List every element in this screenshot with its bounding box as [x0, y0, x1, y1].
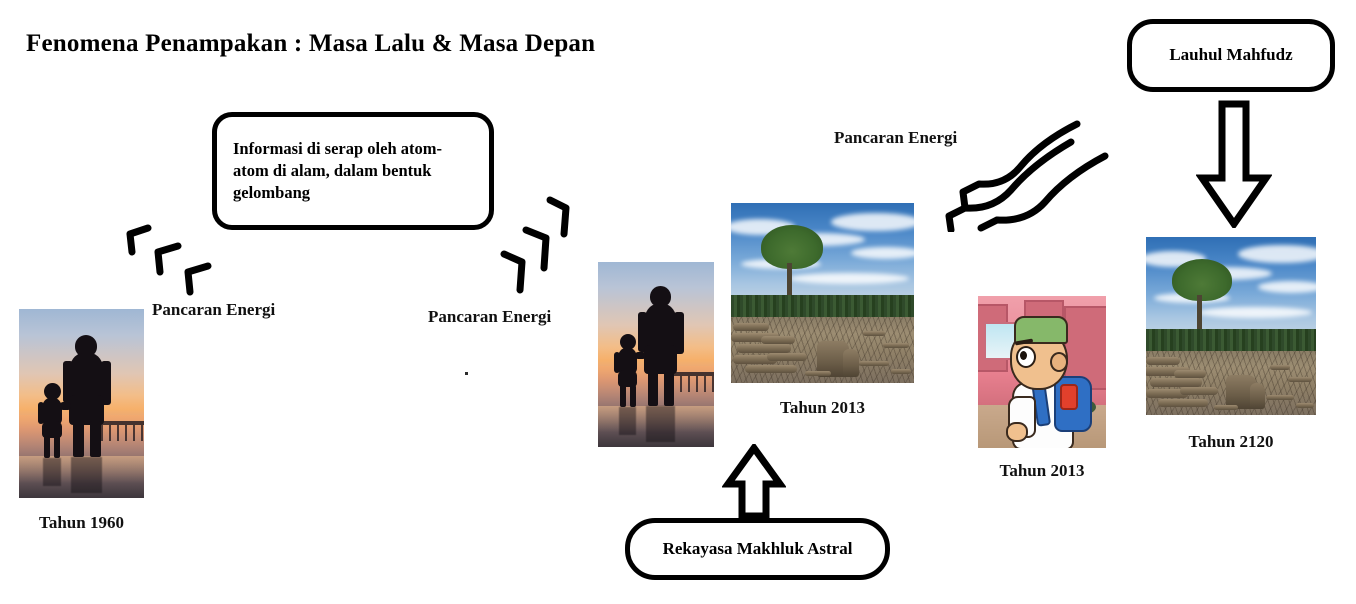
photo-deforestation-2120 — [1146, 237, 1316, 415]
label-pancaran-energi-right: Pancaran Energi — [834, 128, 957, 148]
label-pancaran-energi-middle: Pancaran Energi — [428, 307, 551, 327]
callout-lauhul-mahfudz: Lauhul Mahfudz — [1127, 19, 1335, 92]
page-title: Fenomena Penampakan : Masa Lalu & Masa D… — [26, 30, 595, 58]
stray-dot-artifact — [465, 372, 468, 375]
photo-cartoon-boy-2013 — [978, 296, 1106, 448]
caption-photo-deforestation-2013: Tahun 2013 — [731, 398, 914, 418]
photo-deforestation-2013 — [731, 203, 914, 383]
energy-squiggle-icon-left — [118, 222, 228, 302]
photo-beach-1960 — [19, 309, 144, 498]
photo-beach-middle — [598, 262, 714, 447]
callout-lauhul-mahfudz-text: Lauhul Mahfudz — [1155, 44, 1306, 67]
callout-rekayasa-makhluk-astral-text: Rekayasa Makhluk Astral — [649, 538, 867, 561]
arrow-up-icon — [722, 444, 786, 520]
caption-photo-deforestation-2120: Tahun 2120 — [1146, 432, 1316, 452]
callout-rekayasa-makhluk-astral: Rekayasa Makhluk Astral — [625, 518, 890, 580]
label-pancaran-energi-left: Pancaran Energi — [152, 300, 275, 320]
energy-wave-icon-right — [935, 112, 1115, 232]
callout-informasi: Informasi di serap oleh atom-atom di ala… — [212, 112, 494, 230]
diagram-canvas: Fenomena Penampakan : Masa Lalu & Masa D… — [0, 0, 1356, 604]
arrow-down-icon — [1196, 100, 1272, 228]
caption-photo-cartoon-boy-2013: Tahun 2013 — [978, 461, 1106, 481]
energy-squiggle-icon-middle — [498, 192, 588, 302]
caption-photo-beach-1960: Tahun 1960 — [19, 513, 144, 533]
callout-informasi-text: Informasi di serap oleh atom-atom di ala… — [217, 138, 489, 205]
